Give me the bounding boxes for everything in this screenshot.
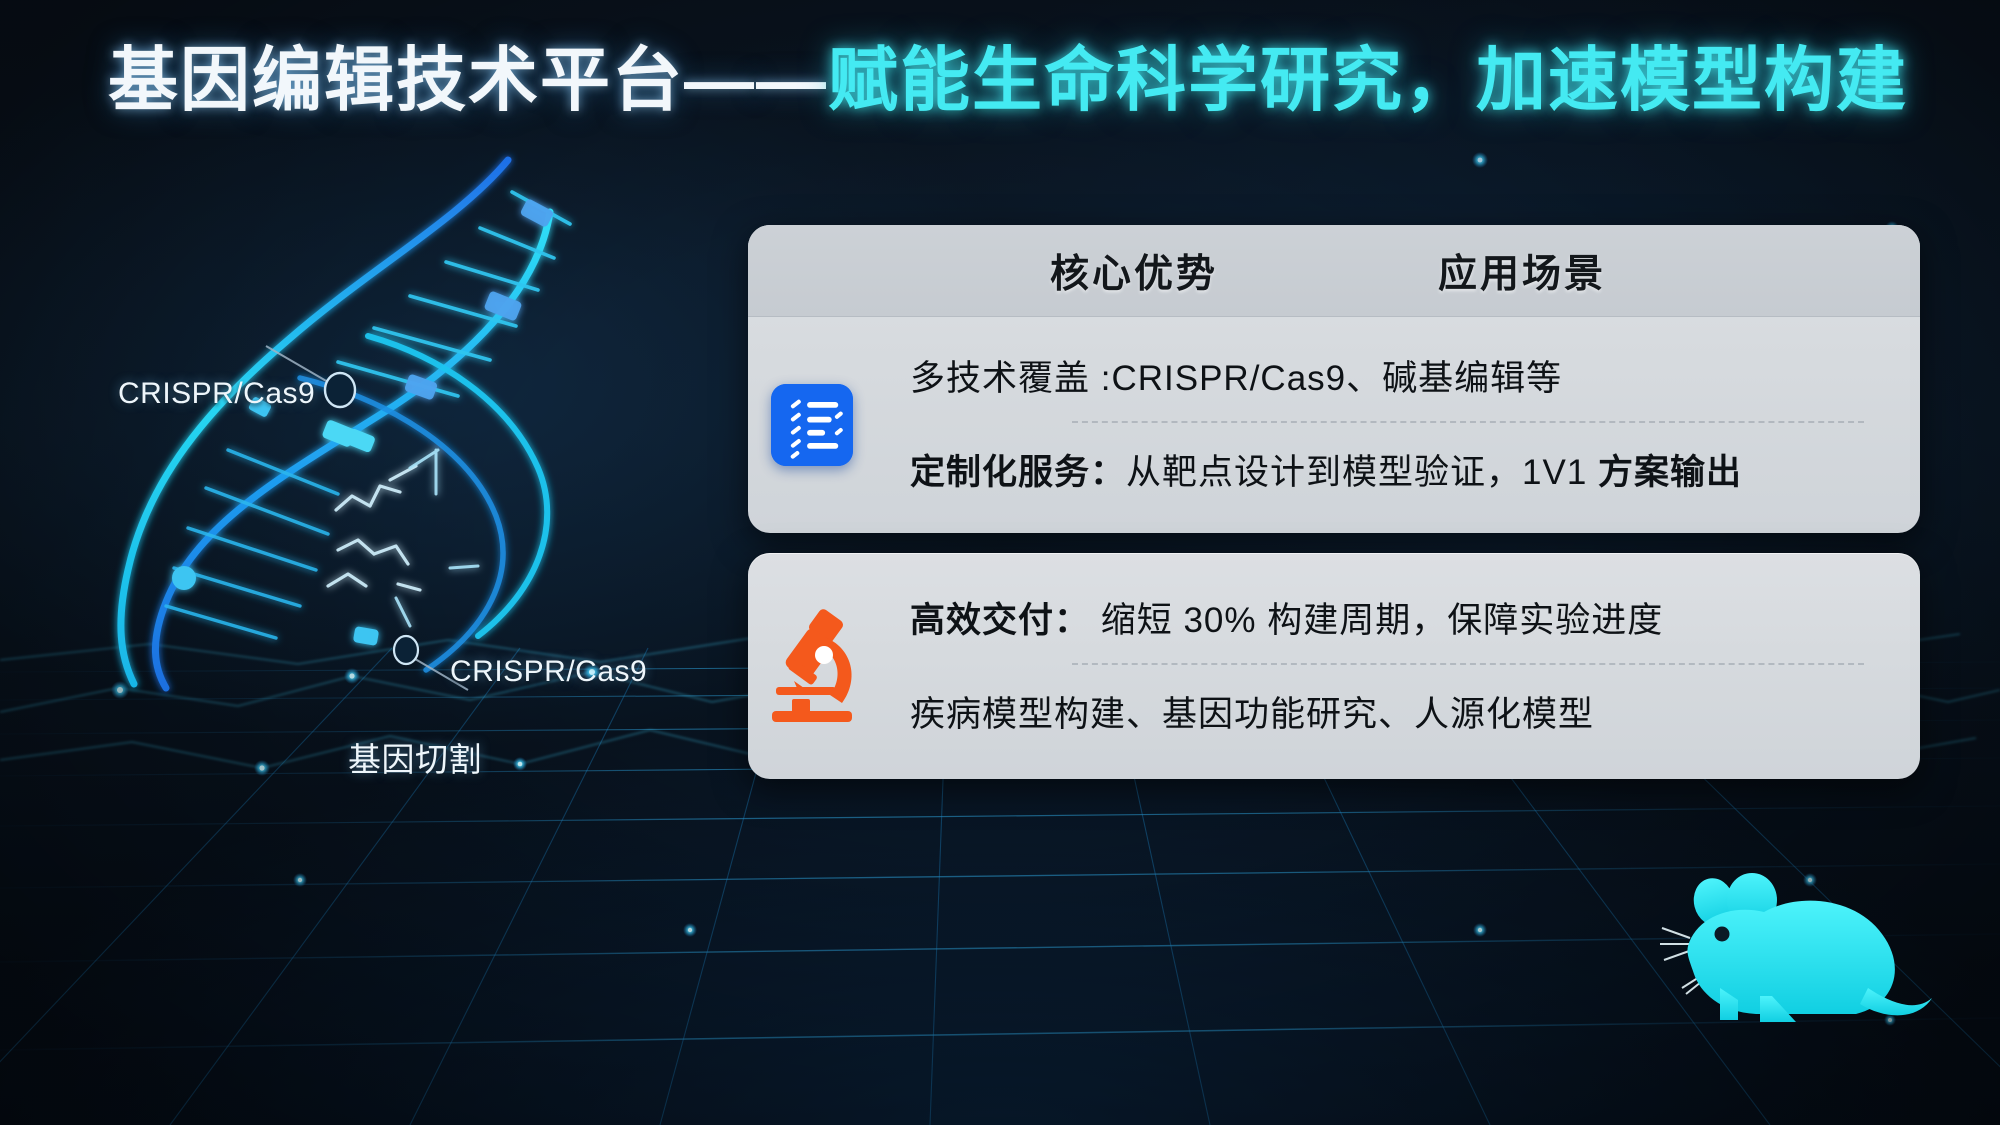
efficient-delivery-text: 高效交付： 缩短 30% 构建周期，保障实验进度 <box>910 592 1663 643</box>
lab-mouse-icon <box>1660 862 1970 1077</box>
title-part-accent: 赋能生命科学研究，加速模型构建 <box>828 41 1908 119</box>
custom-service-emphasis: 方案输出 <box>1598 453 1742 492</box>
advantages-card-body: 多技术覆盖 :CRISPR/Cas9、碱基编辑等 定制化服务：从靶点设计到模型验… <box>748 317 1920 533</box>
header-application-scenarios: 应用场景 <box>1438 243 1606 299</box>
advantages-rows: 多技术覆盖 :CRISPR/Cas9、碱基编辑等 定制化服务：从靶点设计到模型验… <box>876 329 1920 515</box>
efficient-delivery-label: 高效交付： <box>910 601 1090 640</box>
microscope-icon <box>764 607 860 725</box>
efficient-delivery-row: 高效交付： 缩短 30% 构建周期，保障实验进度 <box>876 571 1920 663</box>
crispr-label-bottom: CRISPR/Cas9 <box>450 655 647 689</box>
document-list-icon-slot <box>748 384 876 466</box>
panel-header-row: 核心优势 应用场景 <box>748 225 1920 317</box>
microscope-icon-slot <box>748 607 876 725</box>
info-panel: 核心优势 应用场景 <box>748 225 1920 779</box>
custom-service-text: 定制化服务：从靶点设计到模型验证，1V1 方案输出 <box>910 444 1742 495</box>
multi-tech-text: 多技术覆盖 :CRISPR/Cas9、碱基编辑等 <box>910 350 1562 401</box>
lab-mouse-mascot <box>1660 862 1970 1077</box>
document-list-icon <box>771 384 853 466</box>
slide-root: 基因编辑技术平台——赋能生命科学研究，加速模型构建 <box>0 0 2000 1125</box>
applications-card: 高效交付： 缩短 30% 构建周期，保障实验进度 疾病模型构建、基因功能研究、人… <box>748 553 1920 779</box>
custom-service-body: 从靶点设计到模型验证，1V1 <box>1126 453 1598 492</box>
custom-service-row: 定制化服务：从靶点设计到模型验证，1V1 方案输出 <box>876 423 1920 515</box>
header-core-advantages: 核心优势 <box>1050 243 1218 299</box>
multi-tech-row: 多技术覆盖 :CRISPR/Cas9、碱基编辑等 <box>876 329 1920 421</box>
dna-illustration <box>38 150 638 690</box>
custom-service-label: 定制化服务： <box>910 453 1126 492</box>
applications-rows: 高效交付： 缩短 30% 构建周期，保障实验进度 疾病模型构建、基因功能研究、人… <box>876 571 1920 757</box>
title-part-primary: 基因编辑技术平台—— <box>108 41 828 119</box>
gene-cut-label: 基因切割 <box>348 733 482 781</box>
advantages-card: 核心优势 应用场景 <box>748 225 1920 533</box>
crispr-label-top: CRISPR/Cas9 <box>118 377 315 411</box>
efficient-delivery-body: 缩短 30% 构建周期，保障实验进度 <box>1090 601 1663 640</box>
slide-title: 基因编辑技术平台——赋能生命科学研究，加速模型构建 <box>108 42 1908 119</box>
model-types-text: 疾病模型构建、基因功能研究、人源化模型 <box>910 686 1594 737</box>
model-types-row: 疾病模型构建、基因功能研究、人源化模型 <box>876 665 1920 757</box>
dna-helix-svg <box>38 150 638 690</box>
